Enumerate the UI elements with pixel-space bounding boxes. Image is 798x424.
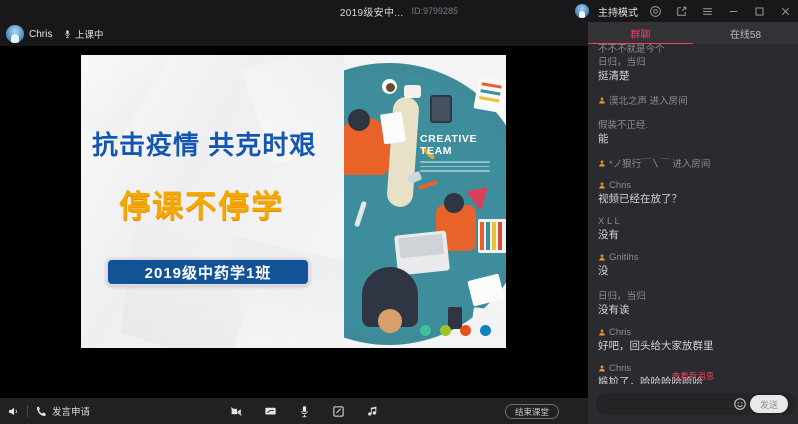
chat-panel: 群聊 在线58 不不不就是今个 日归，当归挺清楚漠北之声 进入房间假装不正经.能… [588,22,798,424]
chat-message-author: Gnitihs [609,252,639,263]
maximize-icon [753,5,766,18]
class-status-chip: 上课中 [63,27,104,41]
external-link-icon [675,5,688,18]
illustration-title: CREATIVETEAM [420,133,477,157]
slide-dot [460,325,471,336]
person-dark-head [378,309,402,333]
chat-message-author: Chris [609,180,631,191]
request-speak-label: 发言申请 [52,404,90,418]
tab-online-members[interactable]: 在线58 [693,22,798,44]
speaker-button[interactable] [7,405,20,418]
user-name: Chris [29,29,52,40]
chat-message-header: 日归，当归 [598,54,788,68]
chat-message-author: 日归，当归 [598,54,646,68]
chat-message-header: X L L [598,216,788,227]
chat-message-author: 日归，当归 [598,288,646,302]
shared-slide: 抗击疫情 共克时艰 停课不停学 2019级中药学1班 [81,55,506,348]
chat-message-list[interactable]: 不不不就是今个 日归，当归挺清楚漠北之声 进入房间假装不正经.能*ノ狠行￣〵￣ … [588,44,798,384]
person-orange-2-head [444,193,464,213]
emoji-icon [733,397,747,411]
user-badge-icon [598,253,606,262]
music-button[interactable] [366,405,379,418]
books-stack [478,219,506,253]
chat-message-header: Gnitihs [598,252,788,263]
slide-text-area: 抗击疫情 共克时艰 停课不停学 2019级中药学1班 [81,55,344,348]
maximize-button[interactable] [751,2,768,20]
screen-share-button[interactable] [264,405,277,418]
chat-join-notice: 漠北之声 进入房间 [598,93,788,107]
chat-message-author: 假装不正经. [598,117,648,131]
chat-message-text: 没有 [598,229,788,242]
slide-dot [480,325,491,336]
chat-message-text: 好吧，回头给大家放群里 [598,340,788,353]
new-message-link[interactable]: 查看新消息 [588,370,798,382]
chat-message-text: 挺清楚 [598,70,788,83]
class-status-label: 上课中 [75,27,104,41]
mug-icon [404,85,421,98]
phone-icon [35,405,48,418]
coffee-cup-icon [382,79,397,94]
end-class-label: 结束课堂 [515,406,549,418]
slide-class-badge: 2019级中药学1班 [106,258,310,286]
emoji-button[interactable] [732,397,747,412]
chat-message: 日归，当归挺清楚 [598,54,788,83]
chat-message-header: 假装不正经. [598,117,788,131]
user-badge-icon [598,328,606,337]
chat-message: 假装不正经.能 [598,117,788,146]
join-notice-text: *ノ狠行￣〵￣ 进入房间 [609,156,710,170]
clipped-message: 不不不就是今个 [598,44,778,55]
video-stage[interactable]: 抗击疫情 共克时艰 停课不停学 2019级中药学1班 [0,46,588,398]
microphone-button[interactable] [298,405,311,418]
bottom-toolbar: 发言申请 [0,398,588,424]
person-orange-head [348,109,370,131]
menu-icon [701,5,714,18]
current-user-chip[interactable]: Chris [6,25,52,43]
toolbar-divider [27,405,28,417]
chat-message-header: Chris [598,327,788,338]
tab-group-chat[interactable]: 群聊 [588,22,693,44]
chat-message: X L L没有 [598,216,788,242]
tab-group-chat-label: 群聊 [631,26,651,41]
slide-dot [440,325,451,336]
whiteboard-icon [332,405,345,418]
target-icon [649,5,662,18]
chat-message-author: Chris [609,327,631,338]
chat-message-text: 没有诶 [598,304,788,317]
bottom-toolbar-center [230,398,379,424]
slide-dot [420,325,431,336]
chat-message: Chris好吧，回头给大家放群里 [598,327,788,353]
send-label: 发送 [760,398,778,411]
target-button[interactable] [647,2,664,20]
join-notice-text: 漠北之声 进入房间 [609,93,688,107]
room-title: 2019级安中... [340,4,404,19]
chat-message-header: Chris [598,180,788,191]
chat-messages-container: 日归，当归挺清楚漠北之声 进入房间假装不正经.能*ノ狠行￣〵￣ 进入房间Chri… [598,54,788,384]
host-mode-label[interactable]: 主持模式 [598,4,638,19]
chat-message: Gnitihs没 [598,252,788,278]
room-id: ID:9799285 [412,6,459,16]
chat-join-notice: *ノ狠行￣〵￣ 进入房间 [598,156,788,170]
user-badge-icon [598,96,606,105]
close-button[interactable] [777,2,794,20]
camera-off-icon [230,405,243,418]
slide-illustration: CREATIVETEAM [344,55,506,348]
chat-message-header: 日归，当归 [598,288,788,302]
menu-button[interactable] [699,2,716,20]
chat-message-text: 没 [598,265,788,278]
title-bar: 2019级安中... ID:9799285 主持模式 [0,0,798,22]
microphone-icon [63,28,72,40]
music-icon [366,405,379,418]
close-icon [779,5,792,18]
user-badge-icon [598,159,606,168]
slide-class-label: 2019级中药学1班 [145,262,272,283]
title-bar-controls: 主持模式 [575,0,794,22]
chat-input-row: 发送 [588,384,798,424]
minimize-icon [727,5,740,18]
screen-share-icon [264,405,277,418]
chat-message: 日归，当归没有诶 [598,288,788,317]
chat-message: Chris视频已经在放了？ [598,180,788,206]
user-badge-icon [598,181,606,190]
minimize-button[interactable] [725,2,742,20]
avatar [6,25,24,43]
speaker-icon [7,405,20,418]
notes-paper [473,77,506,114]
chat-message-text: 能 [598,133,788,146]
whiteboard-button[interactable] [332,405,345,418]
chat-message-author: X L L [598,216,620,227]
microphone-icon [298,405,311,418]
request-speak-button[interactable]: 发言申请 [35,404,90,418]
meeting-window: 2019级安中... ID:9799285 主持模式 [0,0,798,424]
chat-message-text: 视频已经在放了？ [598,193,788,206]
illustration-body-lines [420,161,490,175]
send-button[interactable]: 发送 [750,395,788,413]
slide-dots [420,325,491,336]
slide-subheadline: 停课不停学 [119,181,379,226]
paper-sheet [380,112,406,145]
chat-tabs: 群聊 在线58 [588,22,798,44]
host-avatar [575,4,589,18]
camera-toggle-button[interactable] [230,405,243,418]
external-link-button[interactable] [673,2,690,20]
end-class-button[interactable]: 结束课堂 [505,404,559,419]
tab-online-members-label: 在线58 [730,26,761,41]
tablet-icon [430,95,452,123]
bottom-toolbar-left: 发言申请 [7,398,90,424]
laptop-icon [394,230,450,275]
